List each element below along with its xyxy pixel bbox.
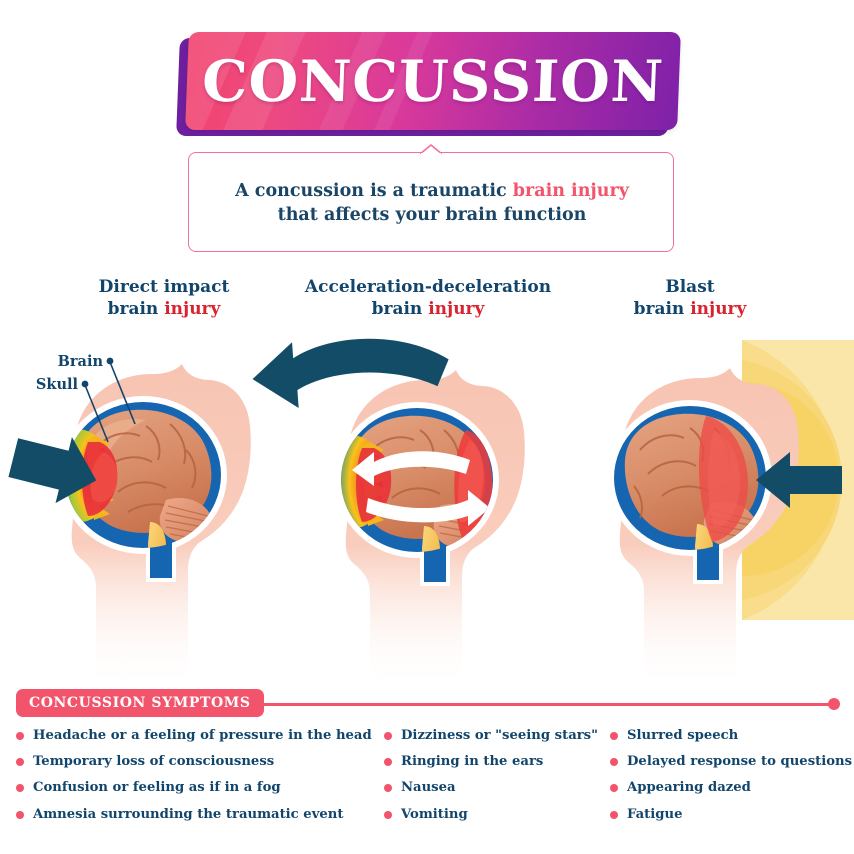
panel-heading-acceleration-deceleration: Acceleration-deceleration brain injury <box>286 276 570 321</box>
bullet-icon <box>610 811 618 819</box>
illustrations-area: Brain Skull <box>0 330 854 680</box>
panel-heading-direct-impact: Direct impact brain injury <box>22 276 306 321</box>
panel-heading-line1: Blast <box>548 276 832 298</box>
bullet-icon <box>384 732 392 740</box>
panel-heading-brain: brain <box>108 299 165 319</box>
list-item: Slurred speech <box>610 728 844 743</box>
symptom-text: Fatigue <box>627 807 683 822</box>
bullet-icon <box>384 811 392 819</box>
symptom-text: Vomiting <box>401 807 468 822</box>
symptom-text: Slurred speech <box>627 728 738 743</box>
symptom-text: Delayed response to questions <box>627 754 852 769</box>
symptom-text: Ringing in the ears <box>401 754 543 769</box>
label-brain: Brain <box>58 353 104 370</box>
list-item: Appearing dazed <box>610 780 844 795</box>
symptom-text: Amnesia surrounding the traumatic event <box>33 807 343 822</box>
bullet-icon <box>610 732 618 740</box>
infographic-root: CONCUSSION A concussion is a traumatic b… <box>0 0 854 854</box>
bullet-icon <box>16 784 24 792</box>
subtitle-line2: that affects your brain function <box>278 203 587 227</box>
symptom-text: Confusion or feeling as if in a fog <box>33 780 281 795</box>
bullet-icon <box>610 784 618 792</box>
label-skull: Skull <box>36 376 79 393</box>
symptom-text: Dizziness or "seeing stars" <box>401 728 598 743</box>
subtitle-callout: A concussion is a traumatic brain injury… <box>188 152 674 252</box>
panel-heading-line2: brain injury <box>548 298 832 320</box>
panel-heading-injury: injury <box>690 299 746 319</box>
panel-heading-line1: Acceleration-deceleration <box>286 276 570 298</box>
list-item: Fatigue <box>610 807 844 822</box>
bullet-icon <box>384 758 392 766</box>
list-item: Nausea <box>384 780 610 795</box>
panel-heading-brain: brain <box>372 299 429 319</box>
panel-heading-injury: injury <box>428 299 484 319</box>
symptom-text: Headache or a feeling of pressure in the… <box>33 728 372 743</box>
bullet-icon <box>16 758 24 766</box>
list-item: Temporary loss of consciousness <box>16 754 384 769</box>
panel-heading-injury: injury <box>164 299 220 319</box>
list-item: Vomiting <box>384 807 610 822</box>
panel-heading-line2: brain injury <box>286 298 570 320</box>
bullet-icon <box>16 732 24 740</box>
list-item: Ringing in the ears <box>384 754 610 769</box>
panel-illustration-direct-impact: Brain Skull <box>5 353 251 690</box>
list-item: Confusion or feeling as if in a fog <box>16 780 384 795</box>
panel-illustration-acceleration-deceleration <box>250 331 525 690</box>
illustration-svg: Brain Skull <box>0 330 854 690</box>
subtitle-line1-plain: A concussion is a traumatic <box>235 181 513 201</box>
panel-heading-blast: Blast brain injury <box>548 276 832 321</box>
panel-heading-line2: brain injury <box>22 298 306 320</box>
bullet-icon <box>384 784 392 792</box>
list-item: Headache or a feeling of pressure in the… <box>16 728 384 743</box>
bullet-icon <box>16 811 24 819</box>
symptoms-section-label: CONCUSSION SYMPTOMS <box>16 689 264 717</box>
list-item: Delayed response to questions <box>610 754 844 769</box>
symptom-text: Nausea <box>401 780 456 795</box>
label-dot-brain <box>107 358 114 365</box>
symptoms-columns: Headache or a feeling of pressure in the… <box>16 728 844 833</box>
list-item: Amnesia surrounding the traumatic event <box>16 807 384 822</box>
list-item: Dizziness or "seeing stars" <box>384 728 610 743</box>
label-dot-skull <box>82 381 89 388</box>
panel-illustration-blast <box>608 340 854 690</box>
bullet-icon <box>610 758 618 766</box>
symptoms-column-3: Slurred speech Delayed response to quest… <box>610 728 844 833</box>
panel-heading-line1: Direct impact <box>22 276 306 298</box>
subtitle-text: A concussion is a traumatic brain injury… <box>189 153 675 253</box>
symptom-text: Appearing dazed <box>627 780 751 795</box>
symptoms-column-1: Headache or a feeling of pressure in the… <box>16 728 384 833</box>
page-title: CONCUSSION <box>185 32 681 130</box>
symptoms-column-2: Dizziness or "seeing stars" Ringing in t… <box>384 728 610 833</box>
title-banner: CONCUSSION <box>178 32 678 138</box>
symptom-text: Temporary loss of consciousness <box>33 754 274 769</box>
symptoms-divider-end-dot <box>828 698 840 710</box>
panel-heading-brain: brain <box>634 299 691 319</box>
subtitle-line1-accent: brain injury <box>513 181 629 201</box>
